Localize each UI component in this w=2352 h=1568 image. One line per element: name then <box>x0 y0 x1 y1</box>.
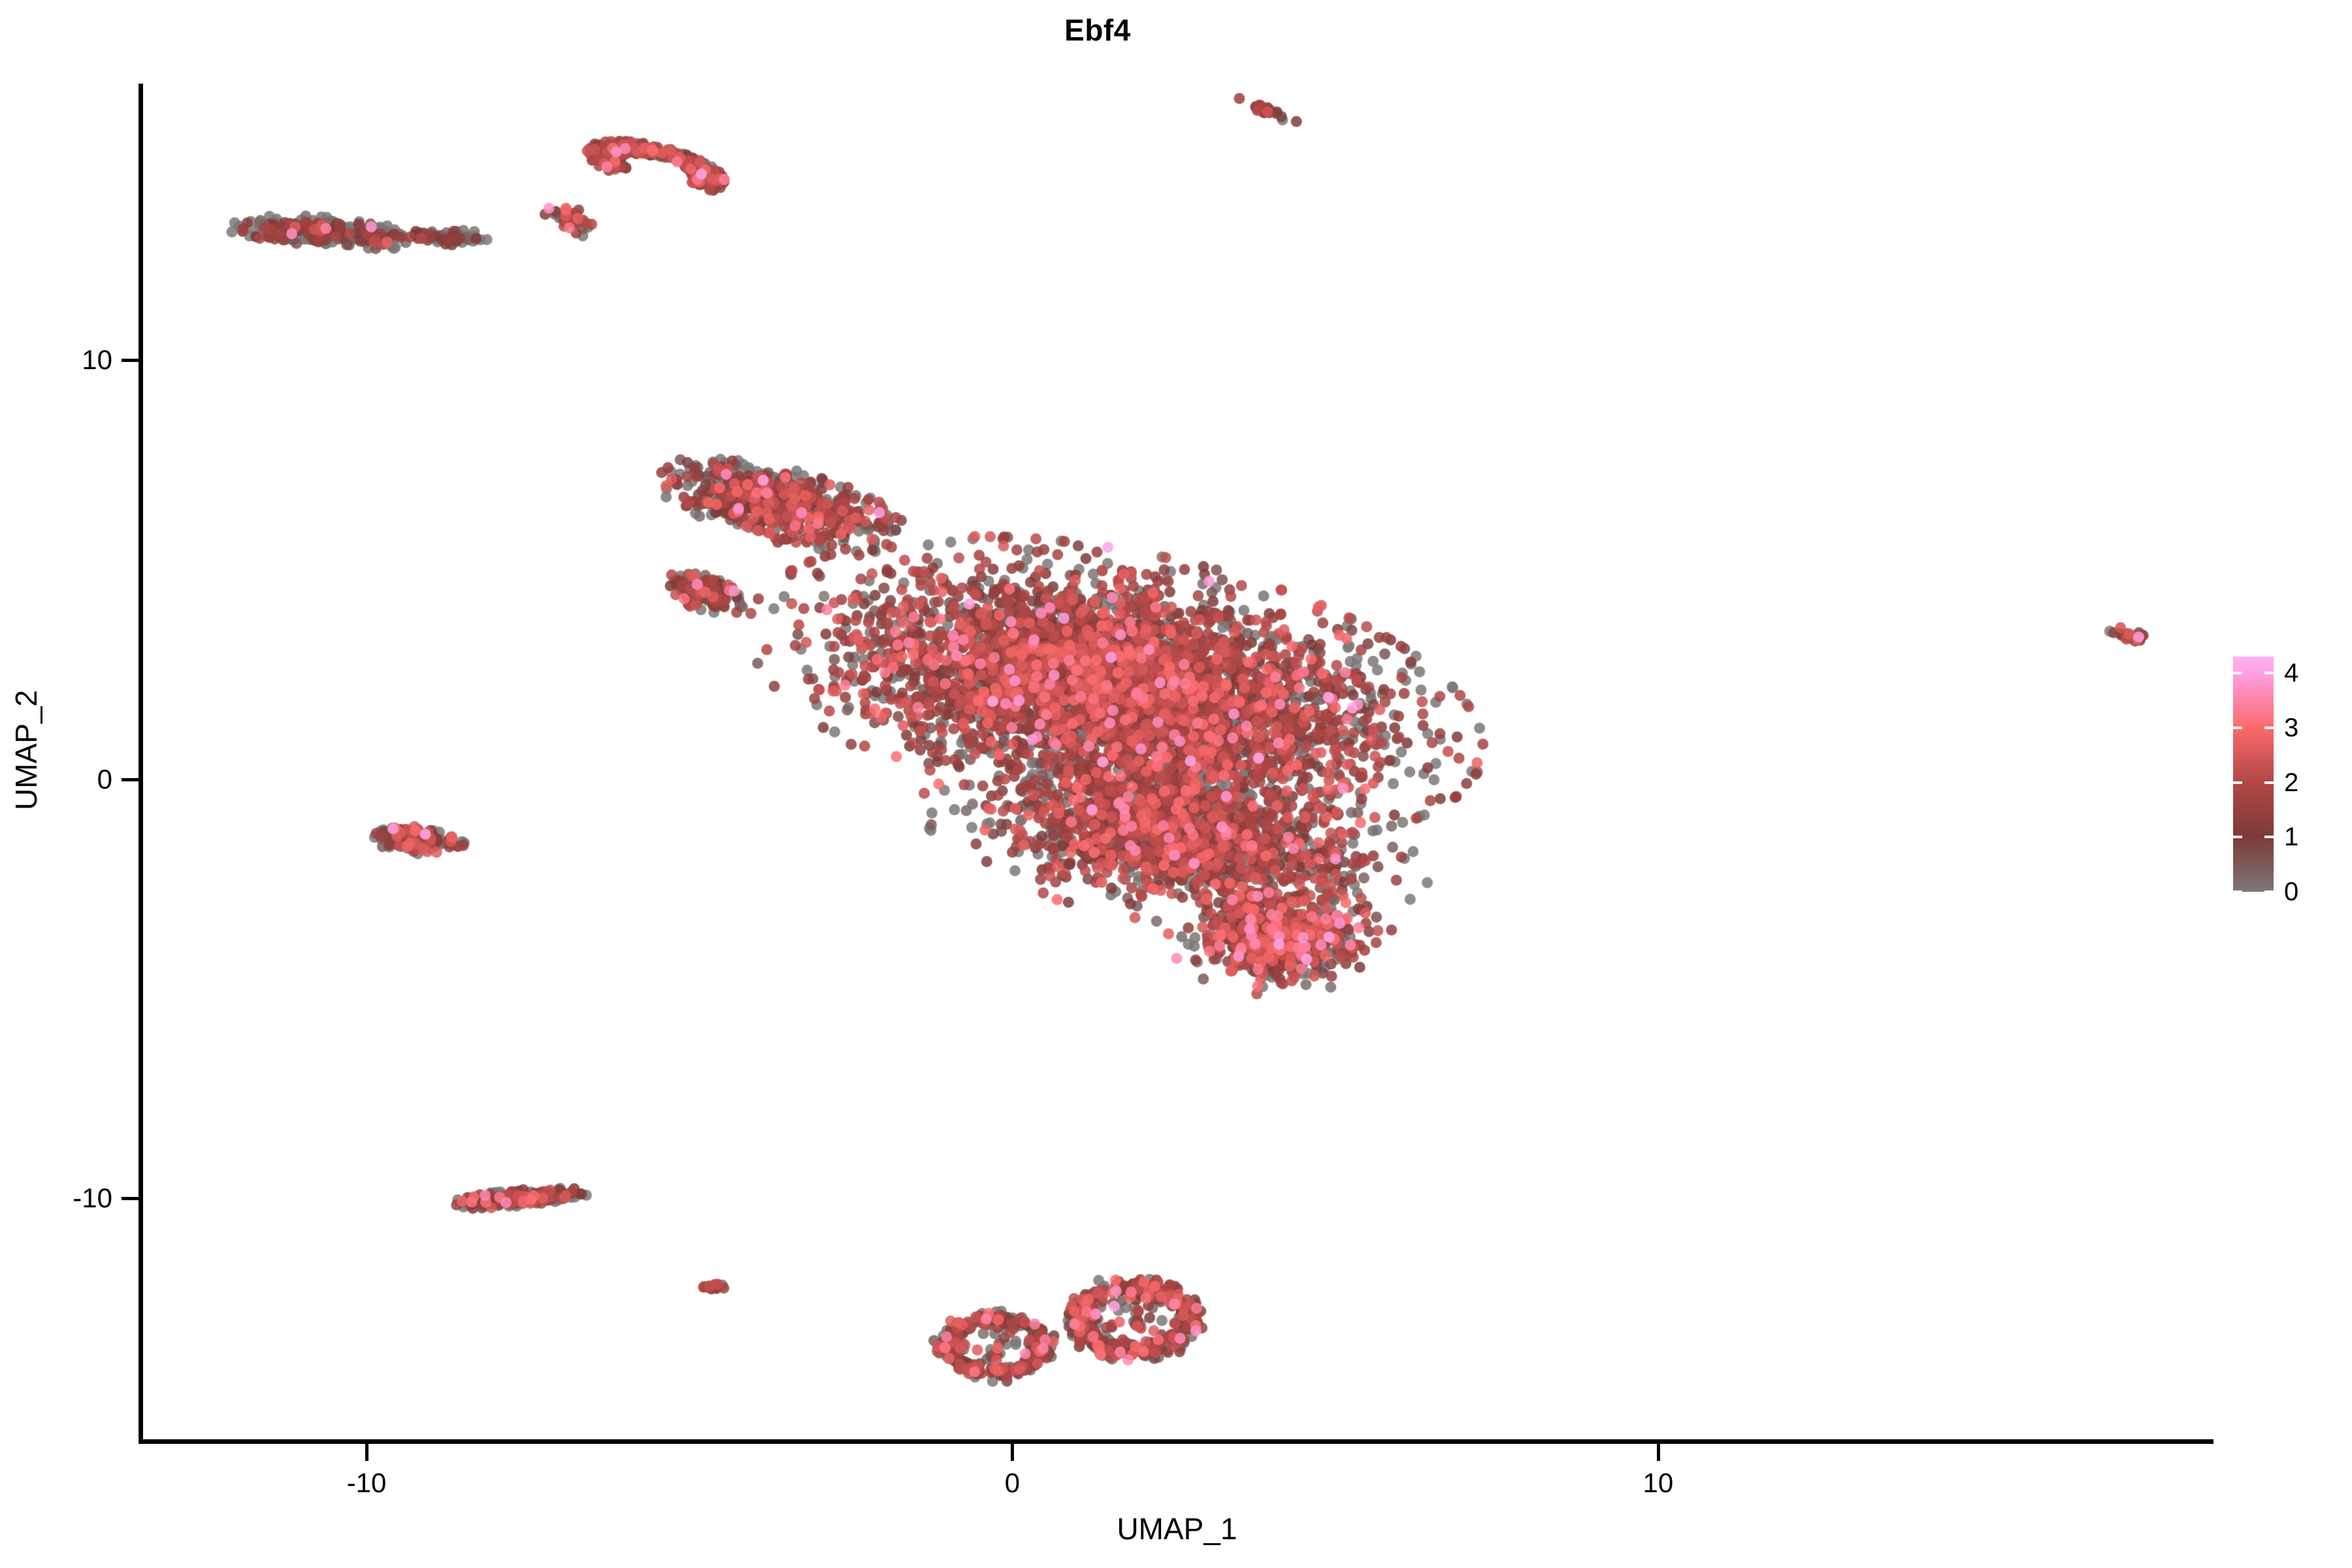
x-tick <box>1011 1444 1014 1461</box>
plot-panel <box>140 84 2213 1441</box>
colorbar-label: 0 <box>2284 876 2298 907</box>
y-axis-label: UMAP_2 <box>8 358 44 1142</box>
colorbar-tickmark <box>2233 672 2242 674</box>
colorbar-label: 4 <box>2284 657 2298 689</box>
colorbar-tickmark <box>2233 890 2242 893</box>
colorbar-tickmark <box>2233 836 2242 838</box>
y-tick <box>122 778 139 781</box>
colorbar-gradient[interactable] <box>2233 657 2274 892</box>
x-tick <box>1657 1444 1660 1461</box>
page-title: Ebf4 <box>0 12 2195 48</box>
colorbar-tickmark <box>2264 672 2274 674</box>
y-axis-line <box>139 84 143 1444</box>
x-axis-label: UMAP_1 <box>140 1511 2213 1547</box>
colorbar-tickmark <box>2264 781 2274 784</box>
colorbar-tickmark <box>2264 890 2274 893</box>
y-tick <box>122 1197 139 1200</box>
x-tick-label: 0 <box>947 1466 1077 1500</box>
colorbar-tickmark <box>2233 781 2242 784</box>
colorbar-tickmark <box>2264 836 2274 838</box>
colorbar-tickmark <box>2264 727 2274 729</box>
colorbar-legend[interactable]: 01234 <box>2233 657 2351 911</box>
colorbar-label: 3 <box>2284 712 2298 743</box>
y-tick-label: -10 <box>0 1181 112 1215</box>
x-tick-label: -10 <box>301 1466 432 1500</box>
x-tick-label: 10 <box>1593 1466 1723 1500</box>
y-tick <box>122 359 139 362</box>
scatter-points-canvas <box>140 84 2213 1441</box>
x-axis-line <box>139 1439 2213 1444</box>
colorbar-label: 1 <box>2284 821 2298 853</box>
colorbar-label: 2 <box>2284 767 2298 798</box>
x-tick <box>365 1444 368 1461</box>
umap-feature-plot: Ebf4 -10010 -10010 UMAP_1 UMAP_2 01234 <box>0 0 2352 1568</box>
colorbar-tickmark <box>2233 727 2242 729</box>
